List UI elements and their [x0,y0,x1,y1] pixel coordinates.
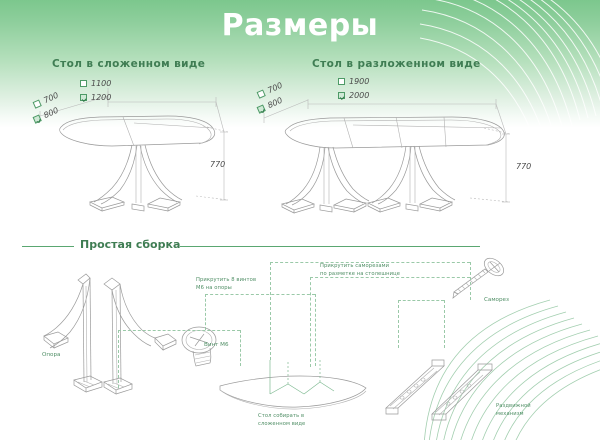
unfolded-width-value-1900: 1900 [349,77,369,86]
unfolded-width-value-2000: 2000 [349,91,369,100]
folded-width-option-1: 1200 [80,92,111,103]
note-screws-to-top: Прикрутить саморезами по разметке на сто… [320,263,400,278]
support-part-drawing [28,262,178,402]
guide-line-bolt-vert [205,294,206,330]
guide-line-rail-1 [398,300,399,348]
folded-table-drawing [28,78,258,218]
unfolded-depth-options: 700 800 [258,90,284,116]
slide-mechanism-drawing [382,344,512,424]
folded-width-value-1200: 1200 [91,93,111,102]
label-slide-mechanism: Раздвижной механизм [496,403,531,418]
folded-width-options: 1100 1200 [80,78,111,103]
folded-height-value: 770 [210,160,225,169]
assembly-divider: Простая сборка [22,238,477,254]
poster-canvas: Размеры Стол в сложенном виде Стол в раз… [0,0,600,440]
note-assemble-folded: Стол собирать в сложенном виде [258,413,305,428]
divider-line-right [180,246,480,247]
guide-line-top-vert [270,262,271,360]
checkbox-unfolded-depth-700[interactable] [257,89,266,98]
unfolded-depth-value-800: 800 [266,96,284,110]
label-screw: Саморез [484,296,509,304]
guide-line-screw-down [310,277,311,367]
guide-line-rail-top [398,300,444,301]
label-bolt-m6: Винт М6 [204,341,229,349]
note-bolts-to-supports: Прикрутить 8 винтов М6 на опоры [196,277,256,292]
checkbox-unfolded-width-2000[interactable] [338,92,345,99]
guide-line-screw-vert [470,262,471,300]
checkbox-folded-depth-800[interactable] [33,114,42,123]
unfolded-width-option-0: 1900 [338,76,369,87]
section-title-folded: Стол в сложенном виде [52,58,205,70]
folded-width-value-1100: 1100 [91,79,111,88]
checkbox-folded-width-1200[interactable] [80,94,87,101]
unfolded-table-drawing [256,78,546,218]
folded-depth-options: 700 800 [34,100,60,126]
guide-line-support-horiz [118,330,240,331]
guide-line-support-left [118,330,119,388]
folded-depth-value-800: 800 [42,106,60,120]
guide-line-bolt-down [315,294,316,366]
label-support: Опора [42,351,60,359]
section-title-unfolded: Стол в разложенном виде [312,58,481,70]
divider-line-left [22,246,74,247]
unfolded-width-options: 1900 2000 [338,76,369,101]
checkbox-unfolded-width-1900[interactable] [338,78,345,85]
guide-line-bolt-horiz [205,294,315,295]
guide-line-rail-2 [444,300,445,348]
assembly-section-title: Простая сборка [80,238,180,251]
checkbox-folded-depth-700[interactable] [33,99,42,108]
checkbox-folded-width-1100[interactable] [80,80,87,87]
unfolded-width-option-1: 2000 [338,90,369,101]
folded-width-option-0: 1100 [80,78,111,89]
guide-line-support-drop [240,330,241,366]
page-title: Размеры [0,8,600,43]
checkbox-unfolded-depth-800[interactable] [257,104,266,113]
unfolded-height-value: 770 [516,162,531,171]
